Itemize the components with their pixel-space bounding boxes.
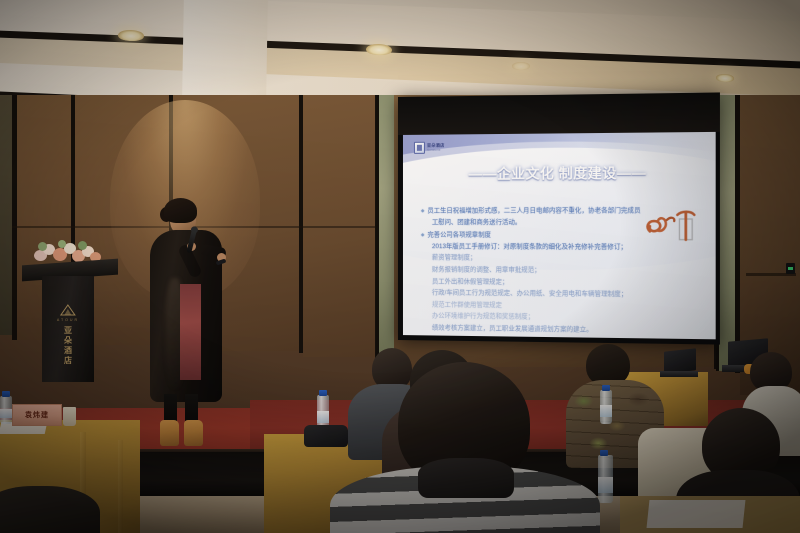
presenter-dress [180, 284, 201, 380]
ceiling-column [182, 0, 268, 108]
podium-brand-cn-4: 店 [57, 356, 79, 366]
presenter-speaker [140, 198, 236, 448]
bottle-cap [600, 450, 608, 456]
slide-line-11: 绩效考核方案建立，员工职业发展通道规划方案的建立。 [421, 322, 703, 337]
laptop-lid[interactable] [664, 348, 696, 373]
water-bottle [598, 455, 613, 503]
flower-leaf [78, 241, 87, 250]
glass-divider-left [379, 95, 394, 361]
slide-logo-mark-icon [414, 142, 425, 154]
ceiling [0, 0, 800, 108]
presenter-boot-right [184, 420, 203, 446]
tablecloth-fold [118, 440, 123, 533]
flower-leaf [38, 242, 47, 251]
bottle-label [598, 477, 613, 493]
ceiling-spotlight-2 [366, 44, 392, 56]
podium-brand-cn-3: 酒 [57, 346, 79, 356]
slide-logo: 亚朵酒店 Sunstone [414, 142, 445, 154]
projection-screen: 亚朵酒店 Sunstone ——企业文化 制度建设—— 员工生日祝福增加形式感，… [398, 92, 720, 344]
bottle-cap [602, 385, 610, 391]
bottle-label [600, 405, 612, 417]
bottle-label [317, 411, 329, 423]
ceiling-spotlight-3 [716, 74, 734, 83]
paper-cup [63, 407, 76, 426]
slide-logo-en: Sunstone [427, 148, 445, 151]
name-card-text: 袁炜建 [25, 410, 49, 420]
laptop-base[interactable] [660, 371, 698, 377]
atour-mountain-icon [59, 304, 77, 316]
presentation-room-photo: 亚朵酒店 Sunstone ——企业文化 制度建设—— 员工生日祝福增加形式感，… [0, 0, 800, 533]
presenter-hair [164, 198, 197, 223]
bottle-cap [319, 390, 327, 396]
glass-divider-right [719, 95, 735, 371]
podium-body: ATOUR 亚 朵 酒 店 [42, 276, 94, 382]
slide-decor-illustration-icon [644, 209, 699, 246]
ceiling-spotlight-1 [118, 30, 144, 42]
podium-brand-cn-1: 亚 [57, 326, 79, 336]
bottle-cap [2, 391, 10, 397]
attendee-striped-sweater [330, 362, 600, 533]
access-control-panel-icon[interactable] [786, 263, 795, 274]
wall-panel-edge-left [0, 95, 12, 335]
ceiling-spotlight-4 [512, 62, 530, 70]
podium: ATOUR 亚 朵 酒 店 [22, 262, 118, 382]
presenter-boot-left [160, 420, 179, 446]
water-bottle [600, 390, 612, 424]
podium-branding: ATOUR 亚 朵 酒 店 [57, 304, 79, 366]
paper-document [647, 500, 746, 528]
attendee-torso [0, 486, 100, 533]
flower-leaf [58, 240, 66, 248]
screen-top-casing [398, 92, 720, 135]
name-card: 袁炜建 [12, 404, 62, 426]
laptop-center-right [660, 350, 698, 382]
bottle-label [0, 409, 12, 419]
water-bottle [0, 396, 12, 424]
slide-title: ——企业文化 制度建设—— [403, 161, 716, 183]
podium-brand-cn-2: 朵 [57, 336, 79, 346]
screen-surface: 亚朵酒店 Sunstone ——企业文化 制度建设—— 员工生日祝福增加形式感，… [403, 132, 716, 339]
attendee-foreground-left [0, 486, 100, 533]
attendee-collar [418, 458, 514, 498]
podium-brand-en: ATOUR [57, 318, 79, 322]
